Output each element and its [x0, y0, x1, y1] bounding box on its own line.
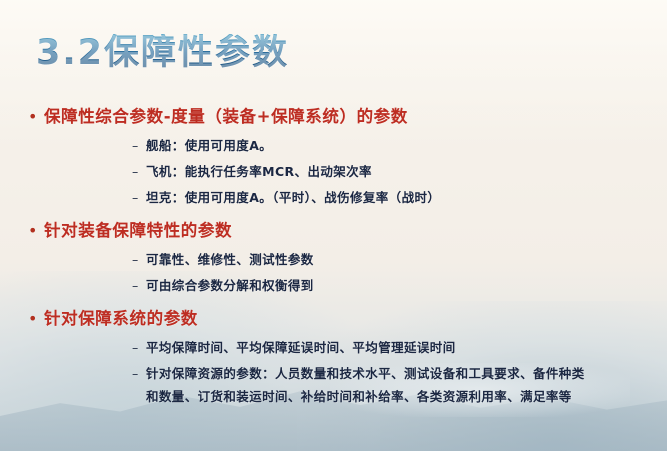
- dash-icon: –: [132, 362, 146, 386]
- slide-body-list: • 保障性综合参数-度量（装备+保障系统）的参数 – 舰船：使用可用度A。 – …: [0, 104, 667, 416]
- bullet-level1: • 针对保障系统的参数: [0, 306, 667, 332]
- bullet-level2-label: 坦克：使用可用度A。（平时）、战伤修复率（战时）: [146, 186, 440, 210]
- bullet-level2: – 针对保障资源的参数：人员数量和技术水平、测试设备和工具要求、备件种类和数量、…: [0, 362, 667, 408]
- bullet-level2: – 平均保障时间、平均保障延误时间、平均管理延误时间: [0, 336, 667, 360]
- bullet-dot-icon: •: [28, 104, 44, 130]
- bullet-level2: – 坦克：使用可用度A。（平时）、战伤修复率（战时）: [0, 186, 667, 210]
- bullet-level2-label: 飞机：能执行任务率MCR、出动架次率: [146, 160, 372, 184]
- bullet-level1-label: 针对保障系统的参数: [44, 306, 198, 332]
- bullet-dot-icon: •: [28, 306, 44, 332]
- dash-icon: –: [132, 248, 146, 272]
- bullet-level2-label: 可由综合参数分解和权衡得到: [146, 274, 314, 298]
- bullet-level2: – 可靠性、维修性、测试性参数: [0, 248, 667, 272]
- sub-item-group: – 平均保障时间、平均保障延误时间、平均管理延误时间 – 针对保障资源的参数：人…: [0, 336, 667, 408]
- presentation-slide: 3.2保障性参数 • 保障性综合参数-度量（装备+保障系统）的参数 – 舰船：使…: [0, 0, 667, 451]
- bullet-level1-label: 针对装备保障特性的参数: [44, 218, 232, 244]
- dash-icon: –: [132, 336, 146, 360]
- bullet-level2-label: 针对保障资源的参数：人员数量和技术水平、测试设备和工具要求、备件种类和数量、订货…: [146, 362, 592, 408]
- bullet-level1: • 针对装备保障特性的参数: [0, 218, 667, 244]
- sub-item-group: – 可靠性、维修性、测试性参数 – 可由综合参数分解和权衡得到: [0, 248, 667, 298]
- bullet-level2-label: 平均保障时间、平均保障延误时间、平均管理延误时间: [146, 336, 456, 360]
- bullet-level2-label: 舰船：使用可用度A。: [146, 134, 272, 158]
- bullet-level2-label: 可靠性、维修性、测试性参数: [146, 248, 314, 272]
- bullet-level1: • 保障性综合参数-度量（装备+保障系统）的参数: [0, 104, 667, 130]
- bullet-dot-icon: •: [28, 218, 44, 244]
- sub-item-group: – 舰船：使用可用度A。 – 飞机：能执行任务率MCR、出动架次率 – 坦克：使…: [0, 134, 667, 210]
- bullet-level2: – 可由综合参数分解和权衡得到: [0, 274, 667, 298]
- bullet-level2: – 舰船：使用可用度A。: [0, 134, 667, 158]
- bullet-level1-label: 保障性综合参数-度量（装备+保障系统）的参数: [44, 104, 408, 130]
- slide-title: 3.2保障性参数: [36, 34, 289, 73]
- slide-content: 3.2保障性参数 • 保障性综合参数-度量（装备+保障系统）的参数 – 舰船：使…: [0, 0, 667, 451]
- dash-icon: –: [132, 134, 146, 158]
- dash-icon: –: [132, 160, 146, 184]
- bullet-level2: – 飞机：能执行任务率MCR、出动架次率: [0, 160, 667, 184]
- dash-icon: –: [132, 186, 146, 210]
- dash-icon: –: [132, 274, 146, 298]
